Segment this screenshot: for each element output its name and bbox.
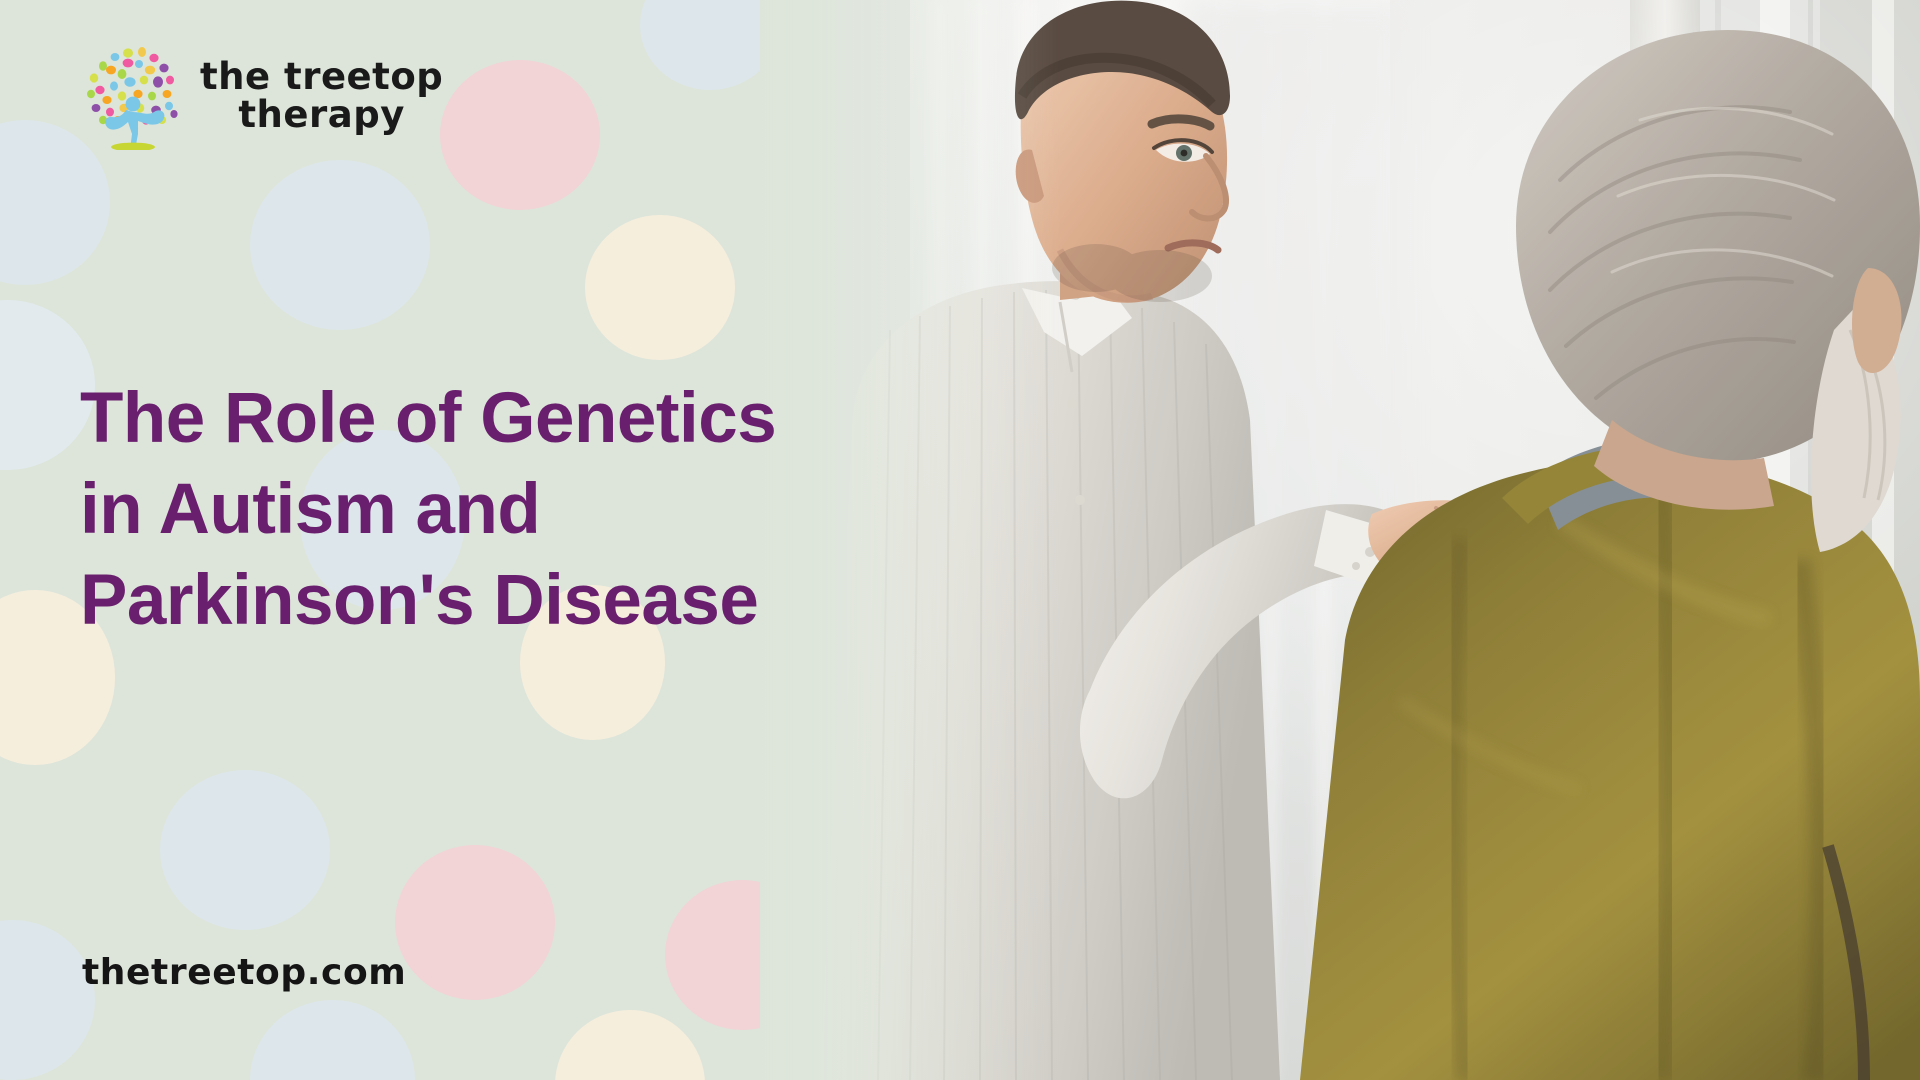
blog-banner: the treetop therapy The Role of Genetics… <box>0 0 1920 1080</box>
brand-logo-lockup[interactable]: the treetop therapy <box>78 42 443 150</box>
headline-line-2: in Autism and <box>80 465 1080 556</box>
site-url[interactable]: thetreetop.com <box>82 952 406 993</box>
decorative-dot <box>585 215 735 360</box>
decorative-dot <box>0 920 95 1080</box>
brand-wordmark: the treetop therapy <box>200 58 443 133</box>
decorative-dot <box>440 60 600 210</box>
headline-line-1: The Role of Genetics <box>80 374 1080 465</box>
headline-line-3: Parkinson's Disease <box>80 556 1080 647</box>
decorative-dot <box>250 160 430 330</box>
decorative-dot <box>250 1000 415 1080</box>
treetop-tree-logo-icon <box>78 42 182 150</box>
decorative-dot <box>555 1010 705 1080</box>
decorative-dot <box>640 0 780 90</box>
decorative-dot <box>395 845 555 1000</box>
page-title: The Role of Genetics in Autism and Parki… <box>80 374 1080 647</box>
decorative-dot <box>160 770 330 930</box>
